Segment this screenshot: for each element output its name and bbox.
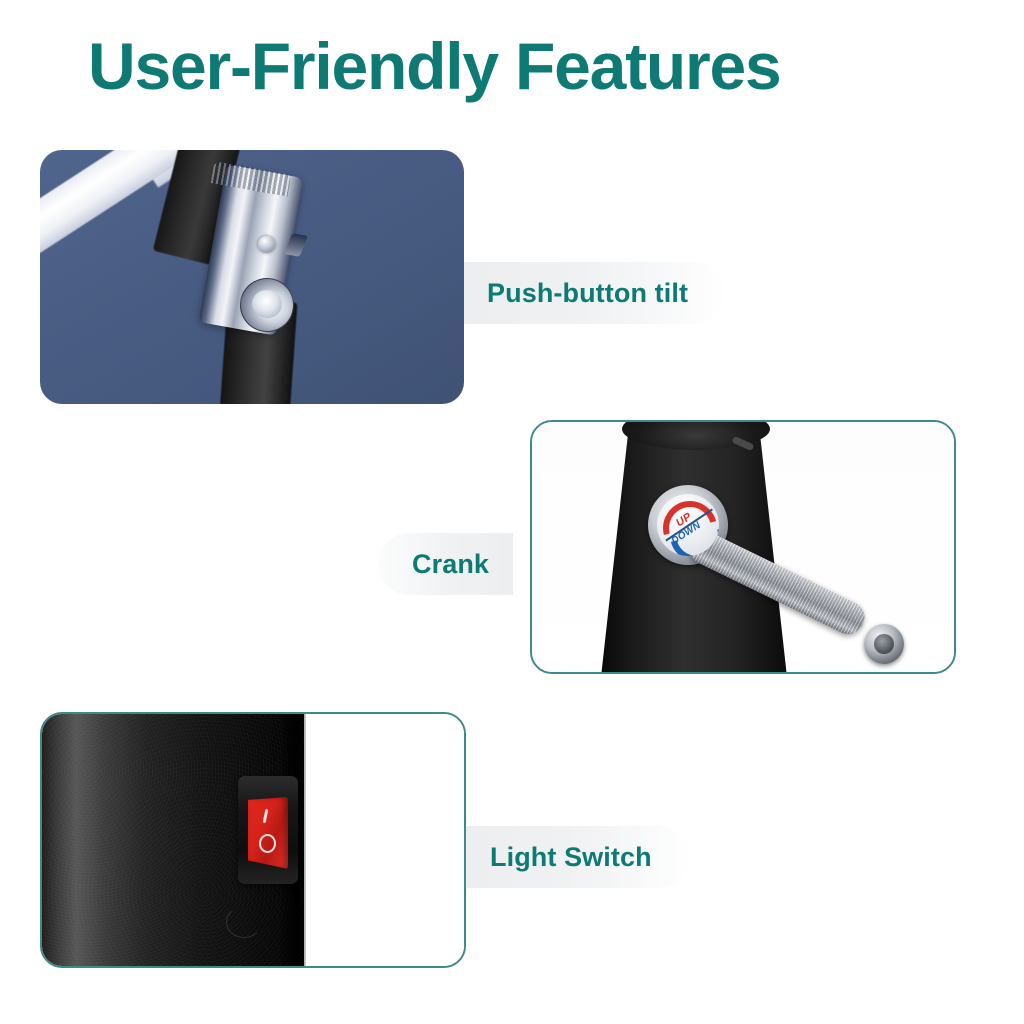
feature-label-crank: Crank	[378, 533, 513, 595]
feature-label-text: Push-button tilt	[487, 278, 688, 309]
push-button-tilt-photo	[40, 150, 464, 404]
feature-highlight-page: User-Friendly Features Push-button tilt …	[0, 0, 1024, 1024]
red-rocker-switch	[248, 797, 288, 869]
up-down-dial: UP DOWN	[657, 494, 719, 556]
page-title: User-Friendly Features	[88, 33, 781, 99]
feature-card-push-button-tilt[interactable]	[40, 150, 464, 404]
feature-label-text: Crank	[412, 549, 489, 580]
crank-photo: UP DOWN	[532, 422, 954, 672]
crank-knob-core	[874, 634, 894, 654]
feature-card-crank[interactable]: UP DOWN	[530, 420, 956, 674]
feature-label-push-button-tilt: Push-button tilt	[463, 262, 726, 324]
feature-label-light-switch: Light Switch	[466, 826, 690, 888]
switch-off-mark-icon	[259, 834, 276, 853]
light-switch-photo	[42, 714, 464, 966]
feature-card-light-switch[interactable]	[40, 712, 466, 968]
pole-seam-arc	[226, 906, 262, 938]
feature-label-text: Light Switch	[490, 842, 652, 873]
